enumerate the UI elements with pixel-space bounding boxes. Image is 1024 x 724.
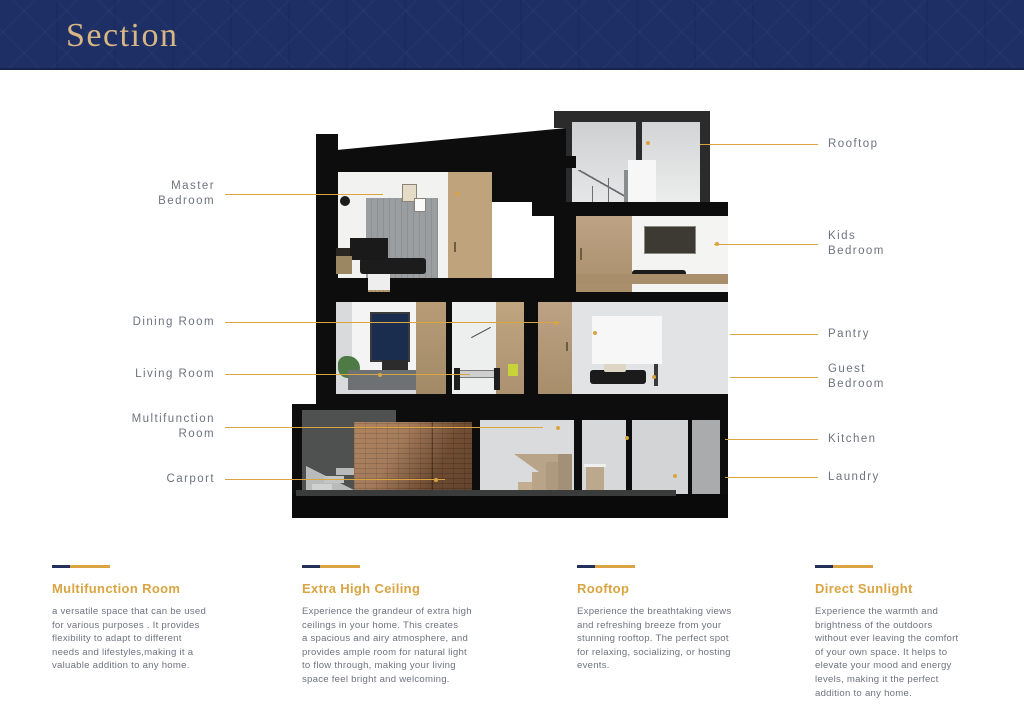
callout-label: Pantry	[828, 327, 870, 342]
callout-label: Living Room	[120, 367, 215, 382]
slide-header: Section	[0, 0, 1024, 70]
callout-guest-bedroom: Guest Bedroom	[730, 362, 960, 392]
kids-level-slab-top	[532, 202, 728, 216]
master-wardrobe-handle	[454, 242, 456, 252]
feature-title: Direct Sunlight	[815, 581, 1000, 596]
feature-body: Experience the warmth and brightness of …	[815, 605, 1000, 700]
master-wardrobe	[448, 172, 492, 278]
callout-label: Guest Bedroom	[828, 362, 885, 392]
callout-pantry: Pantry	[730, 327, 960, 342]
leader-line	[225, 322, 560, 323]
guest-door-handle	[566, 342, 568, 351]
laundry-bay	[632, 420, 688, 494]
callout-multifunction-room: Multifunction Room	[100, 412, 543, 442]
callout-dot-guest-bedroom	[652, 375, 656, 379]
callout-dot-pantry	[593, 331, 597, 335]
callout-dot-master-bedroom	[455, 192, 459, 196]
upper-left-wall	[316, 134, 338, 284]
callout-dot-multifunction-room	[556, 426, 560, 430]
callout-label: Rooftop	[828, 137, 878, 152]
feature-title: Rooftop	[577, 581, 772, 596]
callout-rooftop: Rooftop	[700, 137, 940, 152]
leader-line	[225, 374, 470, 375]
rooftop-white-panel	[628, 160, 656, 204]
feature-card-rooftop: Rooftop Experience the breathtaking view…	[577, 565, 772, 673]
leader-line	[725, 439, 818, 440]
feature-body: Experience the grandeur of extra high ce…	[302, 605, 507, 687]
ground-slab-base	[292, 494, 728, 518]
callout-dot-dining-room	[554, 321, 558, 325]
leader-line	[225, 194, 383, 195]
pantry-divider-wall	[524, 294, 538, 404]
leader-line	[714, 244, 818, 245]
callout-label: Kitchen	[828, 432, 877, 447]
feature-body: Experience the breathtaking views and re…	[577, 605, 772, 673]
exterior-white-panel	[368, 274, 390, 290]
feature-accent-rule	[815, 565, 873, 568]
feature-title: Extra High Ceiling	[302, 581, 507, 596]
guest-bed	[590, 370, 646, 384]
callout-carport: Carport	[120, 472, 445, 487]
feature-card-direct-sunlight: Direct Sunlight Experience the warmth an…	[815, 565, 1000, 700]
callout-kitchen: Kitchen	[725, 432, 960, 447]
feature-body: a versatile space that can be used for v…	[52, 605, 242, 673]
callout-label: Kids Bedroom	[828, 229, 885, 259]
master-wall-art-2	[414, 198, 426, 212]
kids-wall-art	[644, 226, 696, 254]
callout-master-bedroom: Master Bedroom	[120, 179, 383, 209]
callout-dot-laundry	[673, 474, 677, 478]
leader-line	[725, 477, 818, 478]
kids-cabinet-handle	[580, 248, 582, 260]
guest-white-wall	[592, 316, 662, 364]
guest-pillow	[604, 364, 626, 372]
architectural-section-render	[292, 98, 728, 530]
leader-line	[730, 334, 818, 335]
leader-line	[700, 144, 818, 145]
callout-label: Master Bedroom	[120, 179, 215, 209]
kids-desk	[576, 274, 728, 284]
callout-dot-kitchen	[625, 436, 629, 440]
leader-line	[225, 427, 543, 428]
stair-step-d	[558, 454, 572, 494]
feature-title: Multifunction Room	[52, 581, 242, 596]
header-bottom-rule	[0, 68, 1024, 70]
callout-dot-rooftop	[646, 141, 650, 145]
page-title: Section	[66, 17, 178, 55]
kitchen-counter-top	[584, 464, 606, 467]
leader-line	[730, 377, 818, 378]
callout-dining-room: Dining Room	[120, 315, 560, 330]
master-headboard	[350, 238, 388, 260]
callout-label: Multifunction Room	[100, 412, 215, 442]
foundation-strip	[296, 490, 676, 496]
kids-level-wall-left	[554, 209, 576, 295]
callout-dot-living-room	[378, 373, 382, 377]
master-chair	[336, 256, 352, 274]
feature-accent-rule	[577, 565, 635, 568]
feature-card-extra-high-ceiling: Extra High Ceiling Experience the grande…	[302, 565, 507, 687]
feature-accent-rule	[52, 565, 110, 568]
callout-living-room: Living Room	[120, 367, 470, 382]
laundry-bay-right	[692, 420, 720, 494]
callout-label: Dining Room	[120, 315, 215, 330]
pantry-accent-item	[508, 364, 518, 376]
callout-kids-bedroom: Kids Bedroom	[714, 229, 954, 259]
callout-dot-kids-bedroom	[715, 242, 719, 246]
callout-label: Laundry	[828, 470, 880, 485]
slide-root: Section	[0, 0, 1024, 724]
dining-chair-right	[494, 368, 500, 390]
feature-accent-rule	[302, 565, 360, 568]
callout-laundry: Laundry	[725, 470, 960, 485]
callout-dot-carport	[434, 478, 438, 482]
leader-line	[225, 479, 445, 480]
feature-card-multifunction-room: Multifunction Room a versatile space tha…	[52, 565, 242, 673]
callout-label: Carport	[120, 472, 215, 487]
feature-columns: Multifunction Room a versatile space tha…	[0, 565, 1024, 715]
upper-floor-slab	[316, 278, 566, 292]
rooftop-rail-post-2	[608, 178, 609, 204]
master-bed	[360, 258, 426, 274]
